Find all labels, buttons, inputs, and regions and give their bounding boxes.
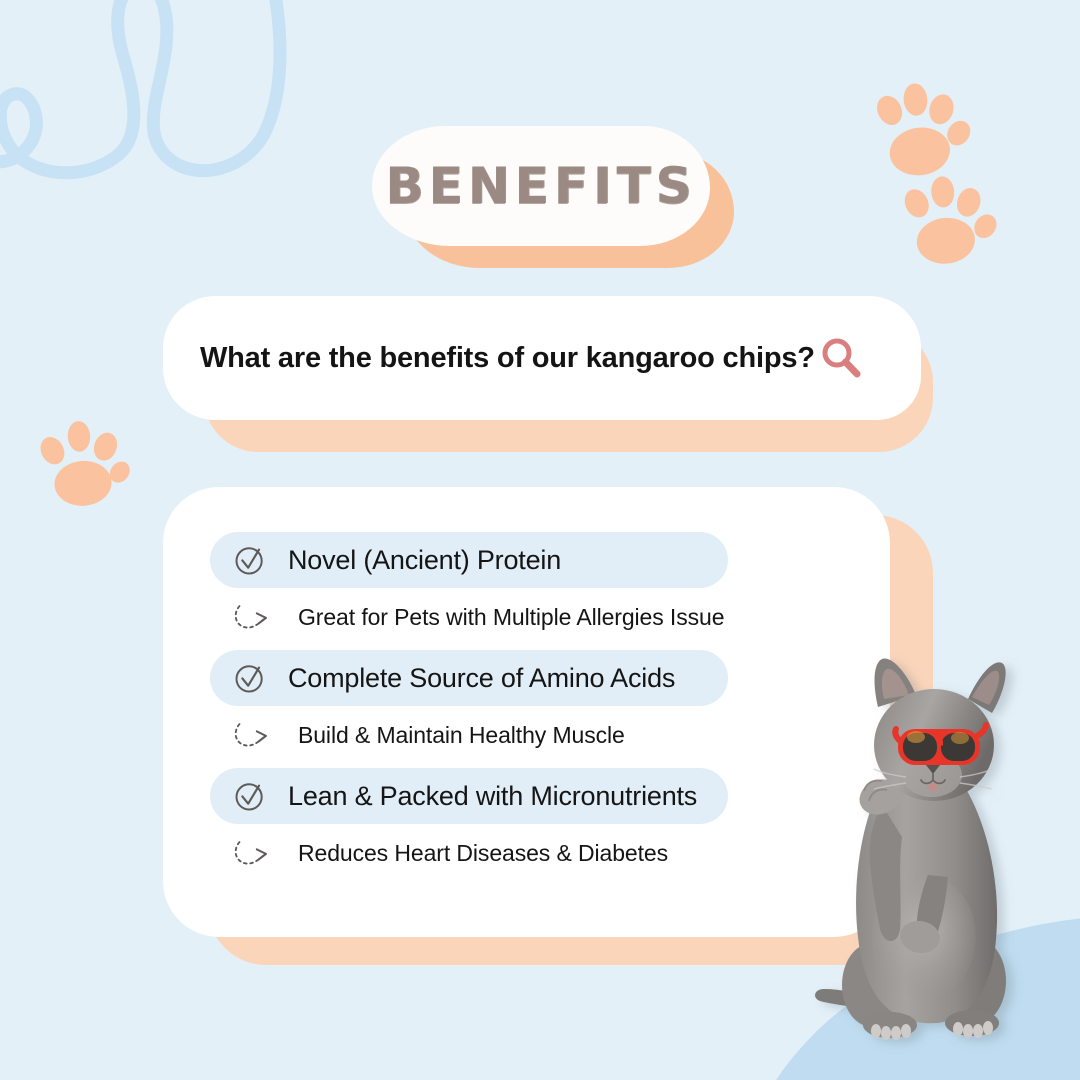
poster-canvas: BENEFITS What are the benefits of our ka… [0,0,1080,1080]
benefit-pill-2[interactable]: Complete Source of Amino Acids [210,650,728,706]
page-title-block: BENEFITS [372,126,732,272]
benefit-sub-3: Reduces Heart Diseases & Diabetes [210,824,850,882]
blue-squiggle-doodle [0,0,310,260]
benefit-subtitle-2: Build & Maintain Healthy Muscle [298,722,625,749]
paw-print-left [30,414,132,516]
benefit-subtitle-3: Reduces Heart Diseases & Diabetes [298,840,668,867]
paw-print-top-right-1 [868,78,976,186]
benefit-sub-1: Great for Pets with Multiple Allergies I… [210,588,850,646]
benefit-title-1: Novel (Ancient) Protein [288,545,561,576]
list-item: Complete Source of Amino Acids Build & M… [210,650,850,764]
list-item: Lean & Packed with Micronutrients Reduce… [210,768,850,882]
benefit-subtitle-1: Great for Pets with Multiple Allergies I… [298,604,724,631]
search-block: What are the benefits of our kangaroo ch… [163,296,943,456]
dashed-curved-arrow-icon [234,720,276,750]
benefit-sub-2: Build & Maintain Healthy Muscle [210,706,850,764]
dashed-curved-arrow-icon [234,602,276,632]
page-title: BENEFITS [372,126,710,246]
circle-check-icon [232,542,268,578]
benefit-pill-3[interactable]: Lean & Packed with Micronutrients [210,768,728,824]
circle-check-icon [232,660,268,696]
benefit-pill-1[interactable]: Novel (Ancient) Protein [210,532,728,588]
dashed-curved-arrow-icon [234,838,276,868]
search-icon[interactable] [819,336,863,380]
paw-print-top-right-2 [898,168,1002,272]
circle-check-icon [232,778,268,814]
benefit-title-3: Lean & Packed with Micronutrients [288,781,697,812]
search-query-text[interactable]: What are the benefits of our kangaroo ch… [200,342,815,375]
benefit-title-2: Complete Source of Amino Acids [288,663,675,694]
benefits-card: Novel (Ancient) Protein Great for Pets w… [163,487,890,937]
cat-mascot-image [806,637,1042,1067]
benefits-list: Novel (Ancient) Protein Great for Pets w… [210,532,850,886]
search-bar[interactable]: What are the benefits of our kangaroo ch… [163,296,921,420]
list-item: Novel (Ancient) Protein Great for Pets w… [210,532,850,646]
